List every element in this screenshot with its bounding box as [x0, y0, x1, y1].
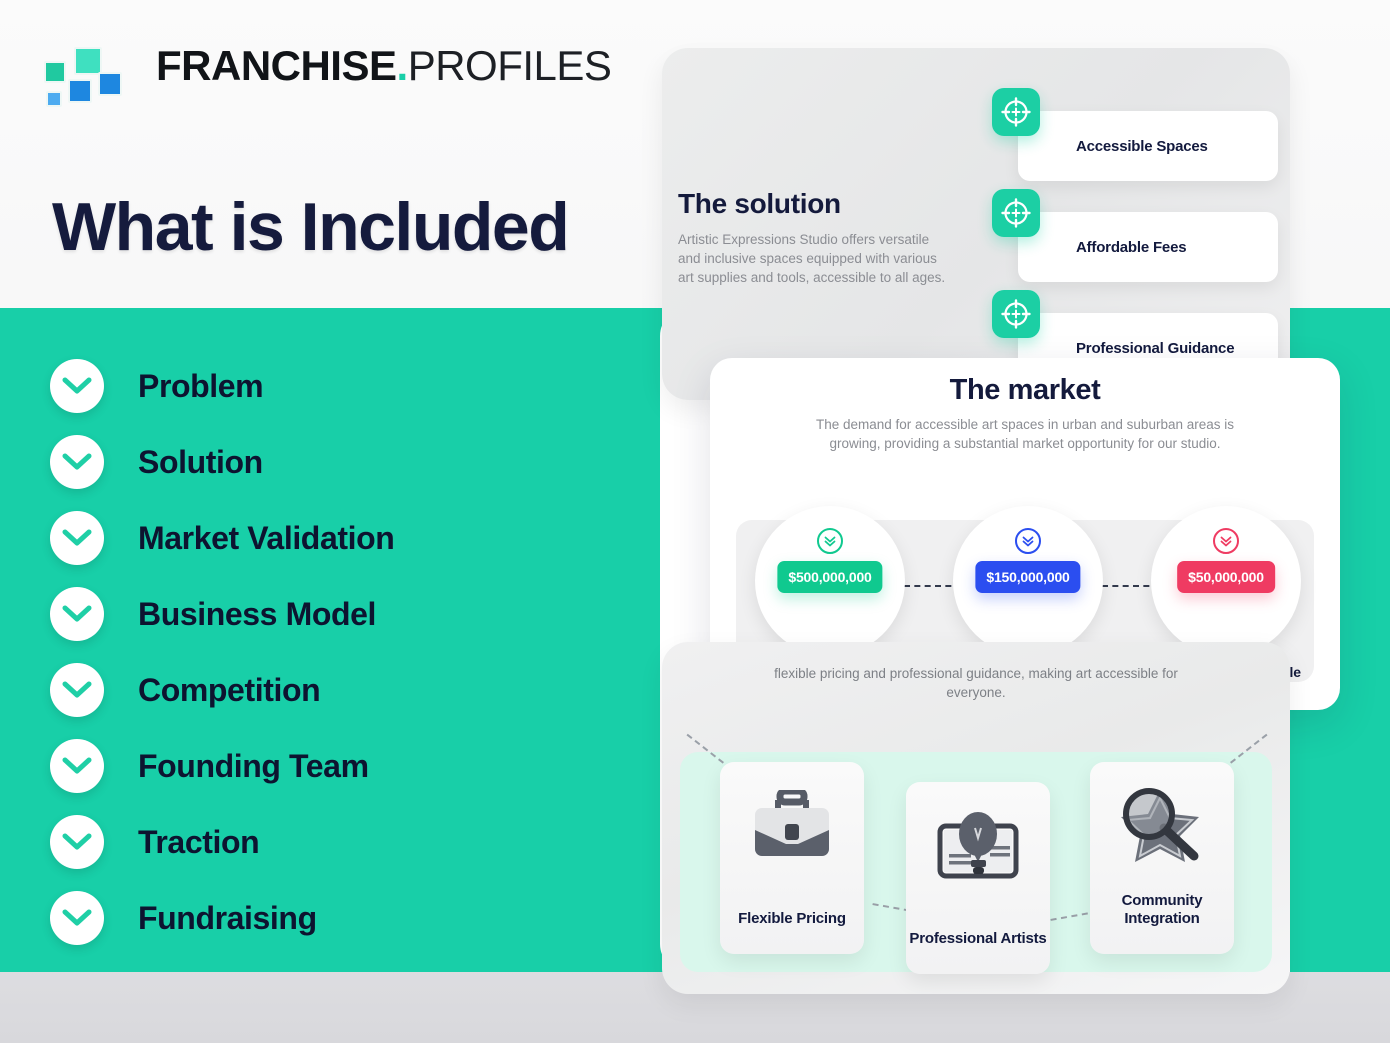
chevron-down-icon — [50, 891, 104, 945]
feature-card-flexible-pricing[interactable]: Flexible Pricing — [720, 762, 864, 954]
double-chevron-down-icon — [817, 528, 843, 554]
toc-item-solution[interactable]: Solution — [50, 424, 610, 500]
chevron-down-icon — [50, 815, 104, 869]
squares-logo-icon-4 — [98, 72, 122, 96]
chevron-down-icon — [50, 663, 104, 717]
squares-logo-icon — [44, 61, 66, 83]
market-title: The market — [710, 374, 1340, 407]
feature-card-professional-artists[interactable]: Professional Artists — [906, 782, 1050, 974]
market-segment-bubble: $150,000,000 — [953, 506, 1103, 656]
brand-dot: . — [397, 42, 408, 89]
double-chevron-down-icon — [1213, 528, 1239, 554]
chevron-down-icon — [50, 435, 104, 489]
solution-item-label: Affordable Fees — [1018, 239, 1186, 256]
toc-item-competition[interactable]: Competition — [50, 652, 610, 728]
page-title: What is Included — [52, 188, 568, 266]
market-segment-value: $150,000,000 — [975, 561, 1080, 593]
toc-item-market-validation[interactable]: Market Validation — [50, 500, 610, 576]
solution-item-label: Professional Guidance — [1018, 340, 1234, 357]
chevron-down-icon — [50, 359, 104, 413]
market-segment-bubble: $500,000,000 — [755, 506, 905, 656]
feature-label-professional-artists: Professional Artists — [906, 930, 1050, 948]
crosshair-target-icon — [992, 189, 1040, 237]
brand-name-bold: FRANCHISE — [156, 42, 397, 89]
toc-item-business-model[interactable]: Business Model — [50, 576, 610, 652]
brand-name-light: PROFILES — [408, 42, 612, 89]
market-segment-value: $500,000,000 — [777, 561, 882, 593]
market-segment-value: $50,000,000 — [1177, 561, 1275, 593]
squares-logo-icon-5 — [46, 91, 62, 107]
toc-item-label: Traction — [138, 824, 259, 861]
double-chevron-down-icon — [1015, 528, 1041, 554]
solution-panel: The solution Artistic Expressions Studio… — [662, 48, 1290, 400]
toc-item-label: Competition — [138, 672, 320, 709]
features-panel: flexible pricing and professional guidan… — [662, 642, 1290, 994]
solution-item-card[interactable]: Accessible Spaces — [1018, 111, 1278, 181]
solution-item-1[interactable]: Accessible Spaces — [992, 88, 1282, 188]
crosshair-target-icon — [992, 290, 1040, 338]
feature-label-community-integration: Community Integration — [1090, 892, 1234, 928]
solution-item-card[interactable]: Affordable Fees — [1018, 212, 1278, 282]
squares-logo-icon-3 — [68, 79, 92, 103]
solution-description: Artistic Expressions Studio offers versa… — [678, 230, 946, 287]
toc-item-fundraising[interactable]: Fundraising — [50, 880, 610, 956]
crosshair-target-icon — [992, 88, 1040, 136]
toc-item-label: Business Model — [138, 596, 376, 633]
toc-item-label: Founding Team — [138, 748, 369, 785]
feature-card-community-integration[interactable]: Community Integration — [1090, 762, 1234, 954]
brand-logo[interactable]: FRANCHISE.PROFILES — [44, 44, 544, 104]
lightbulb-card-icon — [932, 808, 1024, 887]
magnifier-star-icon — [1114, 786, 1210, 869]
toc-item-label: Problem — [138, 368, 263, 405]
toc-item-label: Solution — [138, 444, 263, 481]
briefcase-icon — [750, 790, 834, 865]
solution-item-2[interactable]: Affordable Fees — [992, 189, 1282, 289]
market-description: The demand for accessible art spaces in … — [815, 415, 1235, 453]
toc-item-founding-team[interactable]: Founding Team — [50, 728, 610, 804]
feature-label-flexible-pricing: Flexible Pricing — [720, 910, 864, 928]
toc-item-label: Market Validation — [138, 520, 394, 557]
chevron-down-icon — [50, 739, 104, 793]
features-description: flexible pricing and professional guidan… — [766, 664, 1186, 702]
toc-item-problem[interactable]: Problem — [50, 348, 610, 424]
toc-item-label: Fundraising — [138, 900, 317, 937]
solution-item-label: Accessible Spaces — [1018, 138, 1208, 155]
toc-item-traction[interactable]: Traction — [50, 804, 610, 880]
table-of-contents: ProblemSolutionMarket ValidationBusiness… — [50, 348, 610, 956]
brand-wordmark: FRANCHISE.PROFILES — [156, 42, 611, 90]
squares-logo-icon-2 — [74, 47, 102, 75]
chevron-down-icon — [50, 511, 104, 565]
chevron-down-icon — [50, 587, 104, 641]
solution-title: The solution — [678, 188, 841, 220]
market-segment-bubble: $50,000,000 — [1151, 506, 1301, 656]
